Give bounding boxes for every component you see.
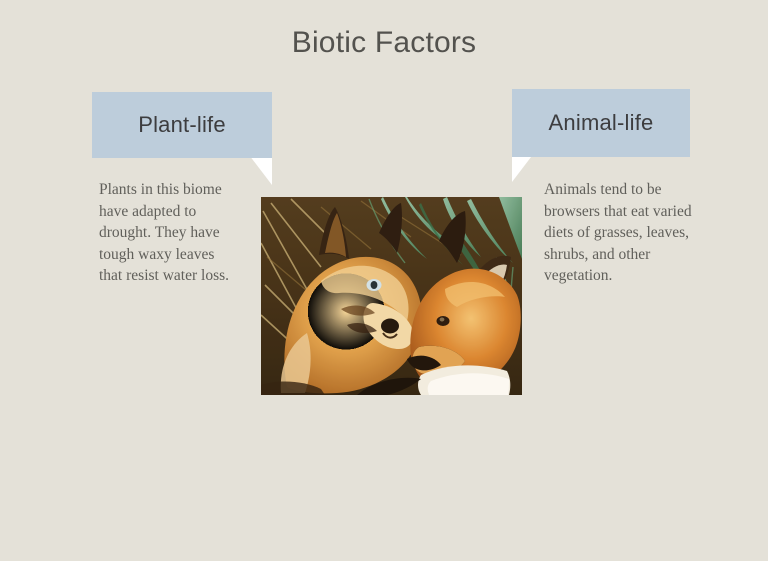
callout-animal-life[interactable]: Animal-life bbox=[512, 89, 690, 157]
callout-label-plant-life: Plant-life bbox=[138, 112, 226, 138]
fox-kits-illustration bbox=[261, 197, 522, 395]
body-text-plant-life: Plants in this biome have adapted to dro… bbox=[99, 179, 239, 287]
slide-canvas: Biotic Factors Plant-life Plants in this… bbox=[0, 0, 768, 561]
page-title: Biotic Factors bbox=[0, 26, 768, 60]
body-text-animal-life: Animals tend to be browsers that eat var… bbox=[544, 179, 696, 287]
callout-label-animal-life: Animal-life bbox=[549, 110, 654, 136]
fox-kits-photo bbox=[261, 197, 522, 395]
callout-plant-life[interactable]: Plant-life bbox=[92, 92, 272, 158]
